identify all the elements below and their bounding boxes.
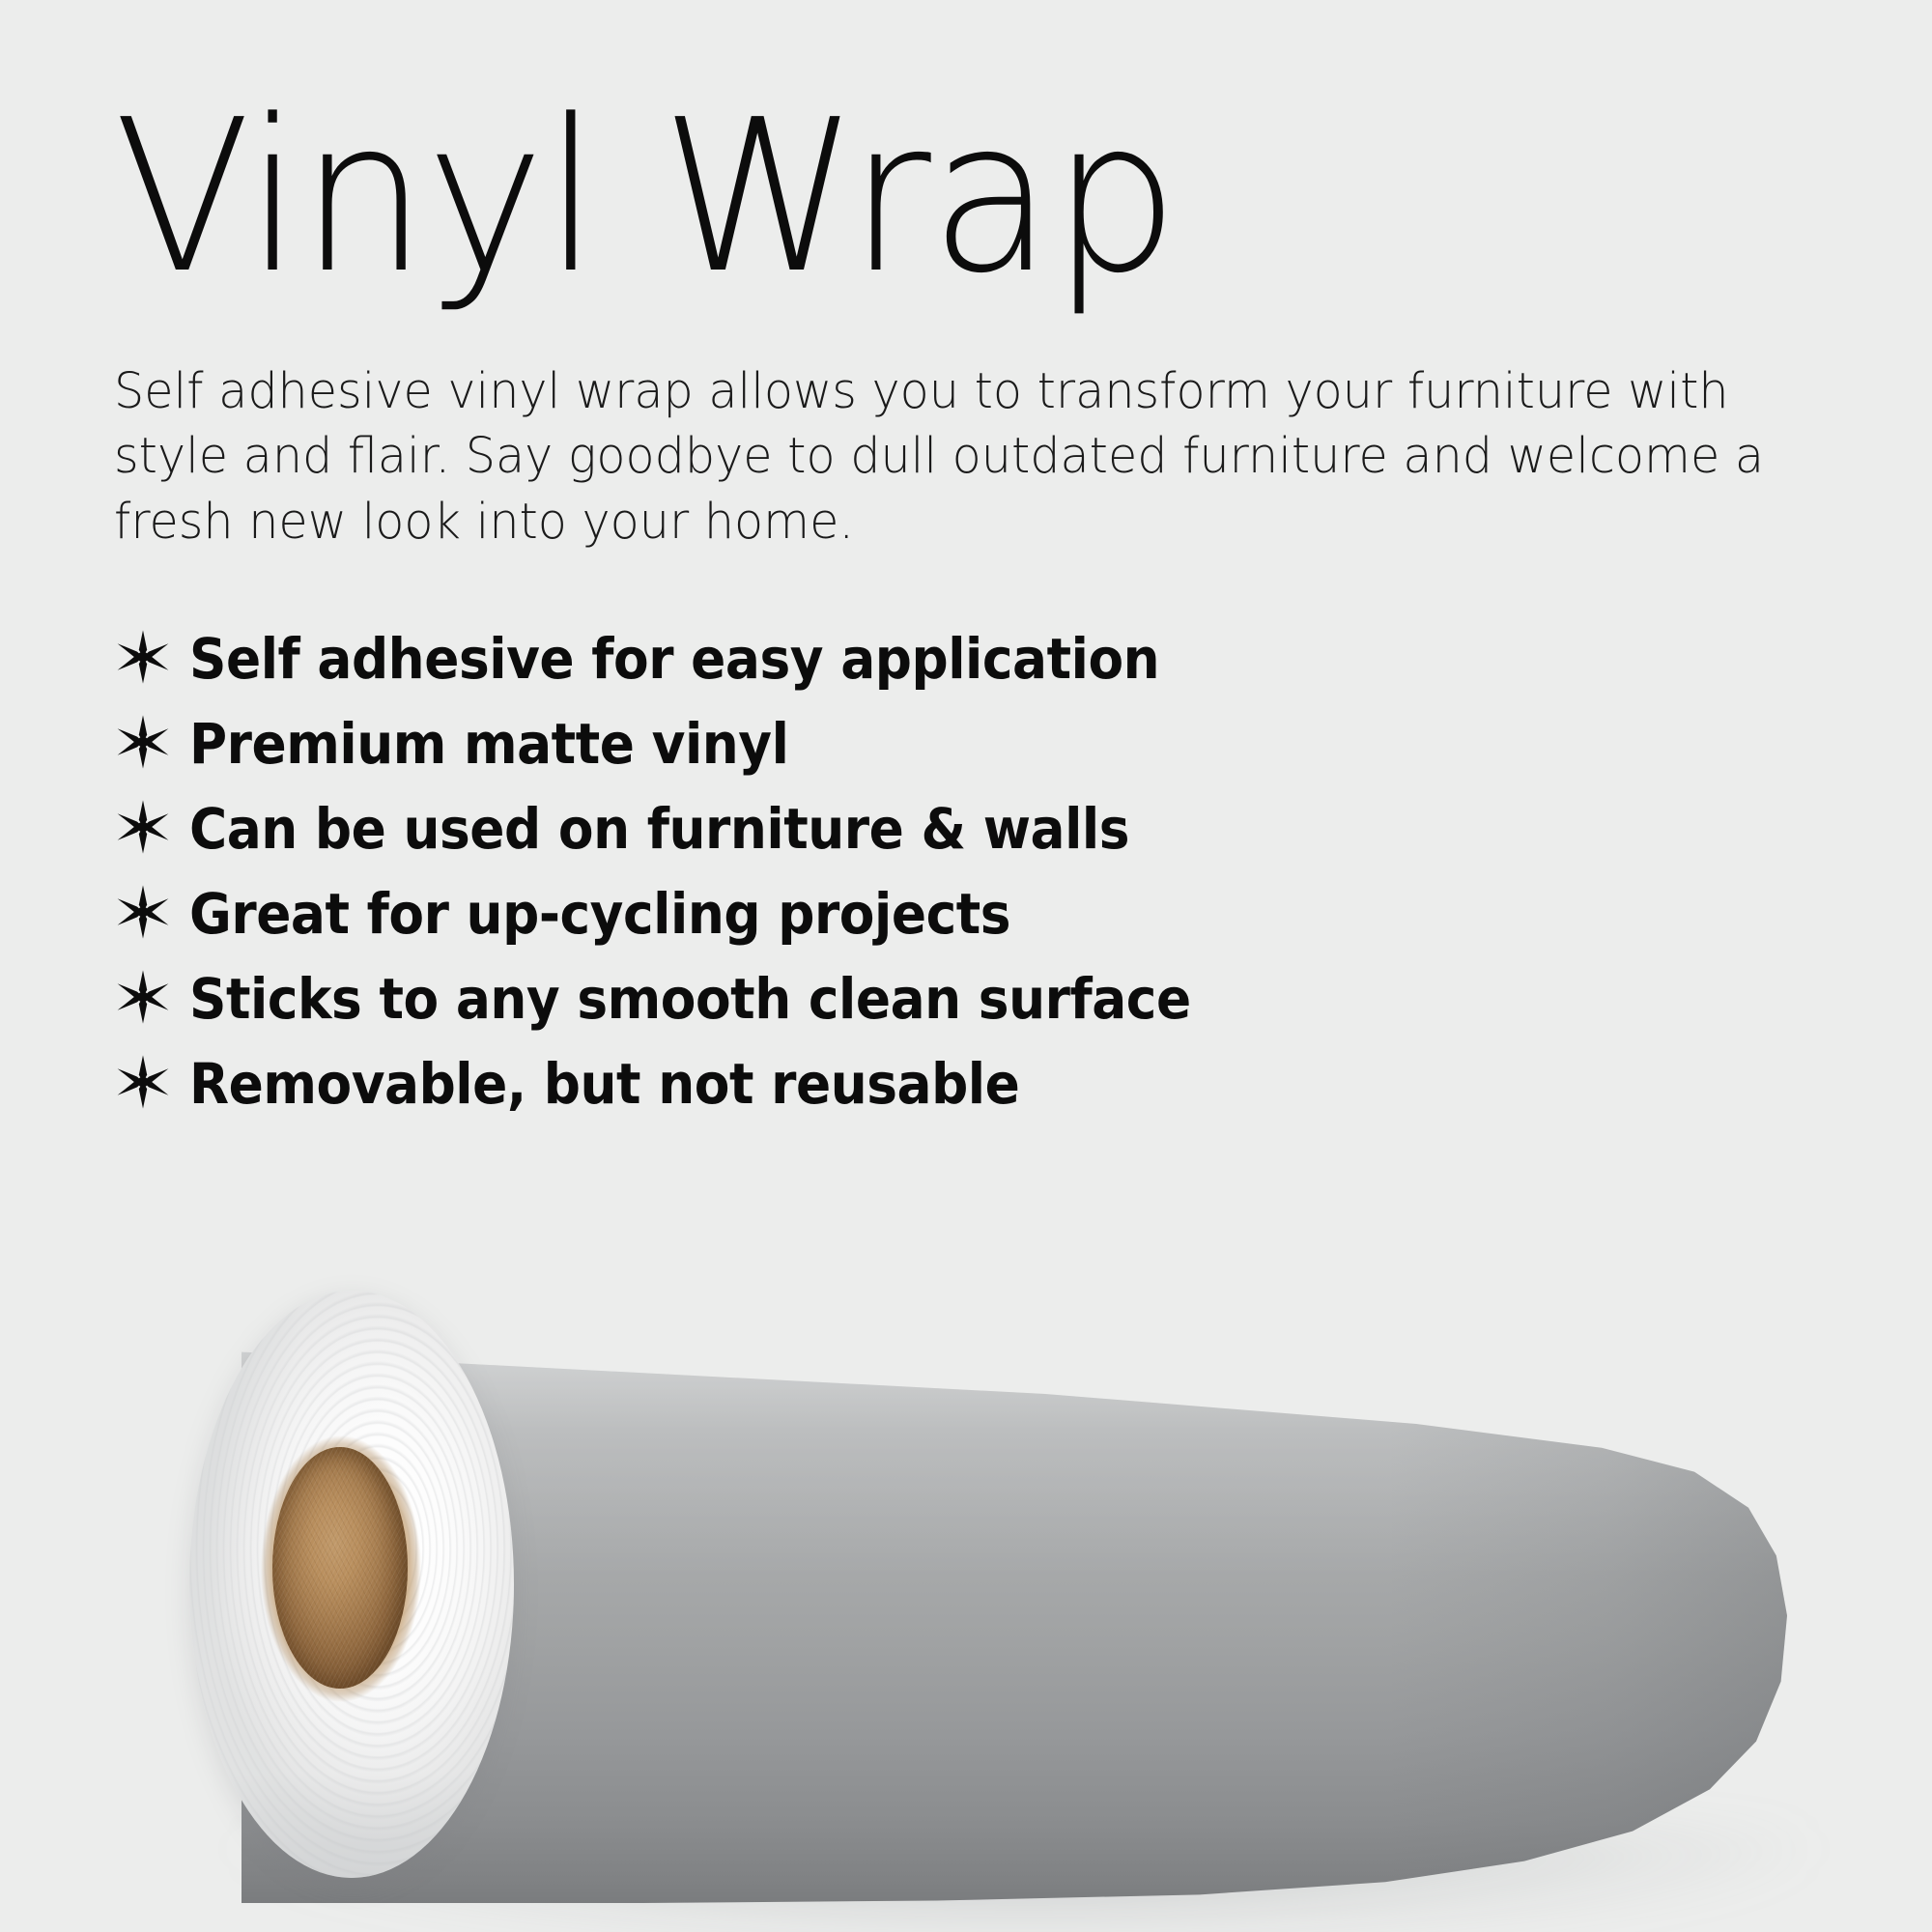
- cardboard-core-hole: [272, 1447, 408, 1689]
- list-item: Can be used on furniture & walls: [114, 786, 1853, 871]
- asterisk-icon: [114, 968, 172, 1026]
- list-item-label: Removable, but not reusable: [189, 1056, 1019, 1112]
- product-image-vinyl-roll: [0, 1285, 1932, 1932]
- text-content-block: Vinyl Wrap Self adhesive vinyl wrap allo…: [114, 93, 1853, 1126]
- asterisk-icon: [114, 798, 172, 856]
- asterisk-icon: [114, 713, 172, 771]
- list-item-label: Premium matte vinyl: [189, 716, 788, 772]
- list-item-label: Great for up-cycling projects: [189, 886, 1010, 942]
- product-description: Self adhesive vinyl wrap allows you to t…: [114, 303, 1782, 554]
- product-feature-card: Vinyl Wrap Self adhesive vinyl wrap allo…: [0, 0, 1932, 1932]
- asterisk-icon: [114, 883, 172, 941]
- asterisk-icon: [114, 628, 172, 686]
- list-item-label: Can be used on furniture & walls: [189, 801, 1129, 857]
- list-item: Self adhesive for easy application: [114, 616, 1853, 701]
- vinyl-roll-end: [172, 1285, 531, 1884]
- list-item-label: Self adhesive for easy application: [189, 631, 1159, 687]
- list-item-label: Sticks to any smooth clean surface: [189, 971, 1191, 1027]
- list-item: Sticks to any smooth clean surface: [114, 956, 1853, 1041]
- asterisk-icon: [114, 1053, 172, 1111]
- vinyl-end-shading: [1385, 1304, 1787, 1903]
- list-item: Removable, but not reusable: [114, 1041, 1853, 1126]
- cardboard-texture: [272, 1447, 408, 1689]
- list-item: Great for up-cycling projects: [114, 871, 1853, 956]
- features-list: Self adhesive for easy application: [114, 554, 1853, 1126]
- page-title: Vinyl Wrap: [114, 93, 1766, 303]
- list-item: Premium matte vinyl: [114, 701, 1853, 786]
